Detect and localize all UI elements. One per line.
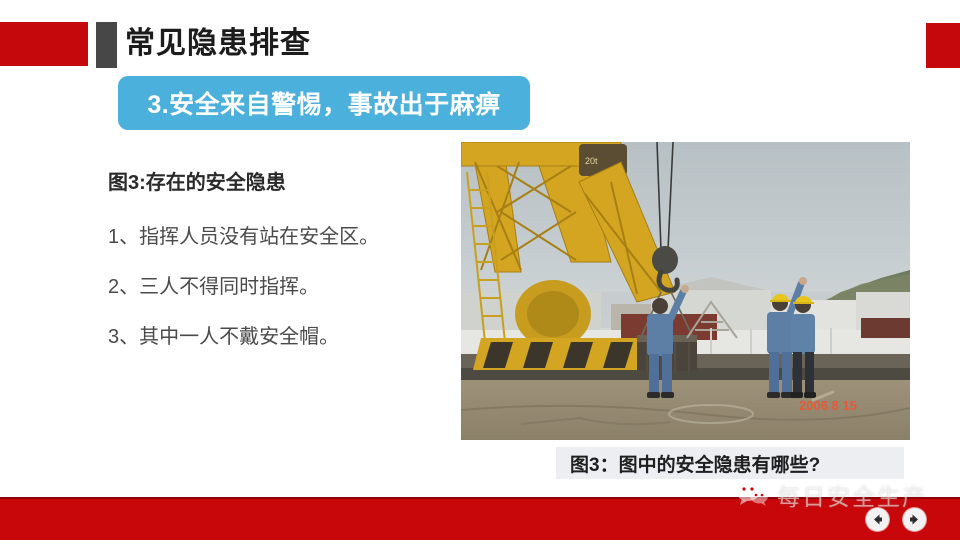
list-item: 2、三人不得同时指挥。 [108,262,448,312]
header-gray-bar [96,22,117,68]
slide-navigation [866,508,926,531]
construction-site-crane-photo: 20t [461,142,910,440]
list-item: 1、指挥人员没有站在安全区。 [108,212,448,262]
svg-text:20t: 20t [585,156,598,166]
hazard-list: 1、指挥人员没有站在安全区。 2、三人不得同时指挥。 3、其中一人不戴安全帽。 [108,212,448,362]
content-heading: 图3:存在的安全隐患 [108,166,286,195]
figure-caption: 图3：图中的安全隐患有哪些? [556,447,904,479]
figure-caption-text: 图3：图中的安全隐患有哪些? [556,450,820,477]
header-red-block-left [0,22,88,66]
section-banner-label: 3.安全来自警惕，事故出于麻痹 [147,85,500,121]
prev-arrow-icon[interactable] [866,508,889,531]
slide-root: 常见隐患排查 3.安全来自警惕，事故出于麻痹 图3:存在的安全隐患 1、指挥人员… [0,0,960,540]
svg-text:2006 8 15: 2006 8 15 [799,398,857,413]
header-red-block-right [926,23,960,68]
list-item: 3、其中一人不戴安全帽。 [108,312,448,362]
page-title: 常见隐患排查 [125,22,311,66]
footer-bar [0,497,960,540]
section-banner: 3.安全来自警惕，事故出于麻痹 [118,76,530,130]
next-arrow-icon[interactable] [903,508,926,531]
